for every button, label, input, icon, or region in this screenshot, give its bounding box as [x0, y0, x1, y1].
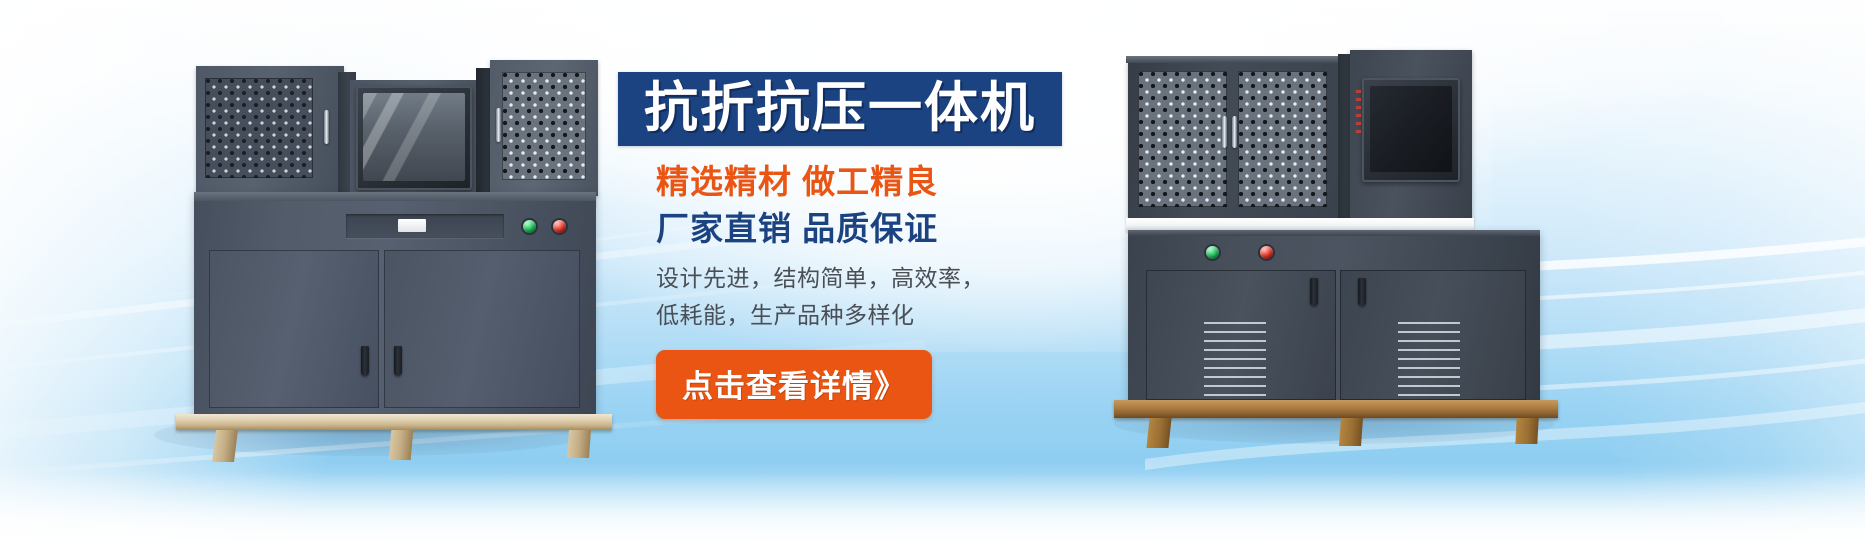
- wooden-pallet-leg: [212, 430, 238, 462]
- indicator-light-green: [523, 220, 536, 233]
- wooden-pallet-leg: [1146, 418, 1171, 448]
- subtitle-primary: 精选精材 做工精良: [656, 163, 1278, 201]
- door-handle[interactable]: [1310, 278, 1318, 306]
- subtitle-secondary: 厂家直销 品质保证: [656, 210, 1278, 248]
- lower-door-right[interactable]: [1340, 270, 1526, 400]
- page-title: 抗折抗压一体机: [644, 81, 1036, 135]
- door-handle[interactable]: [361, 346, 369, 376]
- cabinet-handle: [324, 110, 329, 144]
- wooden-pallet-top: [176, 414, 612, 430]
- left-upper-cabinet: [196, 66, 344, 196]
- background-right-highlight: [1565, 0, 1865, 550]
- promo-copy-block: 抗折抗压一体机 精选精材 做工精良 厂家直销 品质保证 设计先进，结构简单，高效…: [618, 72, 1278, 419]
- wooden-pallet-leg: [389, 430, 414, 460]
- body-top-ledge: [194, 192, 596, 201]
- description-text: 设计先进，结构简单，高效率， 低耗能，生产品种多样化: [656, 260, 1278, 335]
- lower-door-left[interactable]: [209, 250, 379, 408]
- monitor-side-buttons[interactable]: [1356, 90, 1361, 136]
- control-panel-label: [398, 219, 426, 232]
- background-bottom-fade: [0, 472, 1865, 550]
- product-image-left: [160, 42, 580, 442]
- view-details-button[interactable]: 点击查看详情》: [656, 350, 932, 419]
- lower-door-right[interactable]: [384, 250, 580, 408]
- door-handle[interactable]: [394, 346, 402, 376]
- monitor-screen: [1370, 86, 1452, 172]
- cabinet-handle: [496, 108, 501, 142]
- indicator-light-red: [553, 220, 566, 233]
- wooden-pallet-leg: [1515, 418, 1538, 444]
- perforated-vent-panel: [502, 72, 586, 180]
- machine-body: [194, 192, 596, 420]
- wooden-pallet-leg: [1339, 418, 1363, 446]
- title-banner-bar: 抗折抗压一体机: [618, 72, 1062, 146]
- monitor-bezel: [1362, 78, 1460, 182]
- upper-cabinet-top: [1126, 56, 1340, 63]
- right-upper-cabinet: [490, 60, 598, 196]
- control-panel: [346, 214, 504, 238]
- door-handle[interactable]: [1358, 278, 1366, 306]
- monitor-screen: [363, 93, 465, 181]
- promo-banner: 抗折抗压一体机 精选精材 做工精良 厂家直销 品质保证 设计先进，结构简单，高效…: [0, 0, 1865, 550]
- wooden-pallet-leg: [567, 430, 591, 458]
- description-line-1: 设计先进，结构简单，高效率，: [656, 260, 1278, 297]
- view-details-button-label: 点击查看详情》: [682, 369, 906, 404]
- description-line-2: 低耗能，生产品种多样化: [656, 297, 1278, 334]
- monitor-bezel: [356, 86, 472, 190]
- ventilation-louvers: [1398, 322, 1460, 396]
- perforated-vent-panel: [205, 78, 313, 178]
